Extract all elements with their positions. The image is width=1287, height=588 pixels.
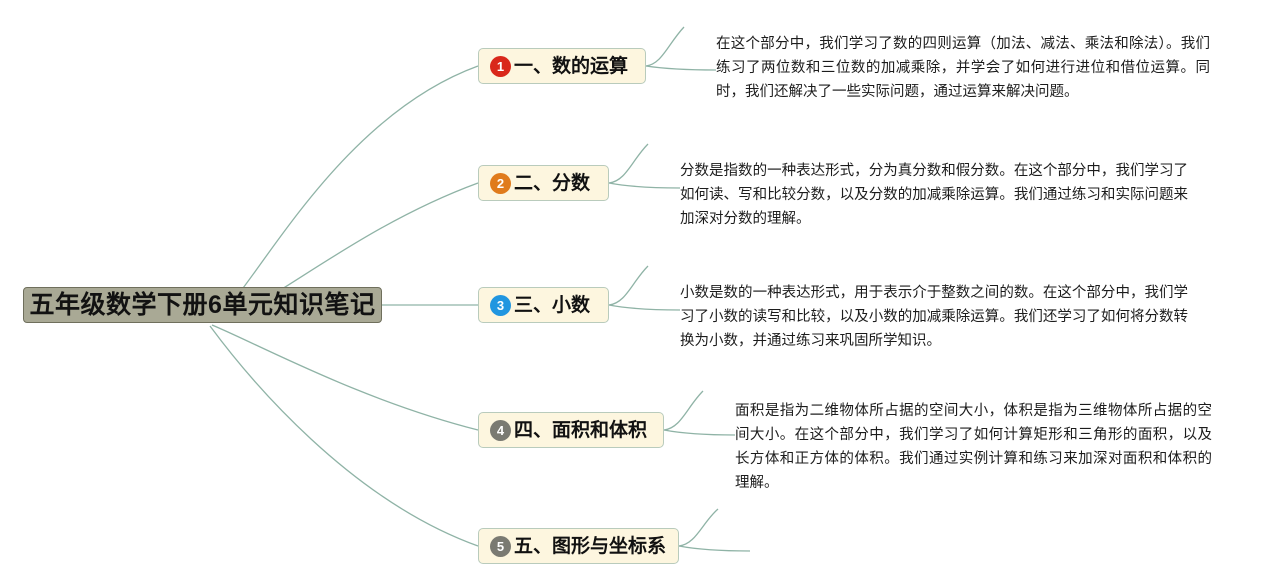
connector-root-to-branch-5 — [210, 326, 478, 546]
branch-node-1[interactable]: 1 一、数的运算 — [478, 48, 646, 84]
branch-1-label: 一、数的运算 — [514, 57, 628, 76]
branch-3-number-badge: 3 — [490, 295, 511, 316]
root-node[interactable]: 五年级数学下册6单元知识笔记 — [23, 287, 382, 323]
branch-1-detail-text: 在这个部分中，我们学习了数的四则运算（加法、减法、乘法和除法）。我们练习了两位数… — [716, 32, 1210, 104]
branch-node-3[interactable]: 3 三、小数 — [478, 287, 609, 323]
branch-2-number-badge: 2 — [490, 173, 511, 194]
branch-2-label: 二、分数 — [514, 174, 590, 193]
branch-5-number-badge: 5 — [490, 536, 511, 557]
connector-root-to-branch-1 — [212, 66, 478, 322]
branch-4-detail-text: 面积是指为二维物体所占据的空间大小，体积是指为三维物体所占据的空间大小。在这个部… — [735, 399, 1212, 495]
root-node-label: 五年级数学下册6单元知识笔记 — [30, 293, 376, 318]
connector-branch-4-lower — [664, 430, 735, 435]
connector-branch-1-upper — [646, 27, 684, 66]
connector-branch-4-upper — [664, 391, 703, 430]
branch-4-number-badge: 4 — [490, 420, 511, 441]
branch-1-number-badge: 1 — [490, 56, 511, 77]
branch-2-detail-text: 分数是指数的一种表达形式，分为真分数和假分数。在这个部分中，我们学习了如何读、写… — [680, 159, 1188, 231]
branch-5-label: 五、图形与坐标系 — [514, 537, 666, 556]
branch-4-label: 四、面积和体积 — [514, 421, 647, 440]
connector-root-to-branch-4 — [212, 325, 478, 430]
branch-node-5[interactable]: 5 五、图形与坐标系 — [478, 528, 679, 564]
connector-branch-1-lower — [646, 66, 716, 70]
branch-3-detail-text: 小数是数的一种表达形式，用于表示介于整数之间的数。在这个部分中，我们学习了小数的… — [680, 281, 1188, 353]
connector-branch-3-lower — [609, 305, 680, 310]
connector-branch-5-lower — [679, 546, 750, 551]
connector-branch-5-upper — [679, 509, 718, 546]
connector-branch-2-upper — [609, 144, 648, 183]
connector-branch-2-lower — [609, 183, 680, 188]
branch-node-2[interactable]: 2 二、分数 — [478, 165, 609, 201]
branch-3-label: 三、小数 — [514, 296, 590, 315]
connector-branch-3-upper — [609, 266, 648, 305]
mindmap-canvas: 五年级数学下册6单元知识笔记 1 一、数的运算 在这个部分中，我们学习了数的四则… — [0, 0, 1287, 588]
branch-node-4[interactable]: 4 四、面积和体积 — [478, 412, 664, 448]
